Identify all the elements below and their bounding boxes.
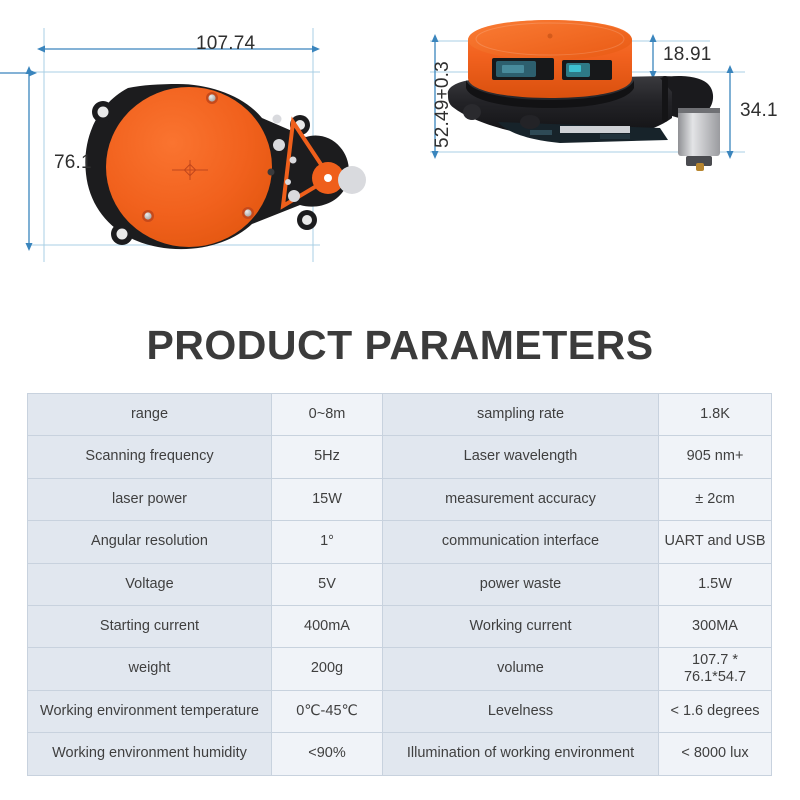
param-value-cell: 300MA <box>659 605 772 647</box>
param-name-cell: Illumination of working environment <box>383 733 659 775</box>
left-figure: 107.74 76.1 <box>0 0 410 300</box>
param-value-cell: ± 2cm <box>659 478 772 520</box>
table-row: Working environment temperature0℃-45℃Lev… <box>28 690 772 732</box>
rotor-cap <box>106 87 272 247</box>
product-parameters-table: range0~8msampling rate1.8KScanning frequ… <box>27 393 771 776</box>
param-value-cell: 1° <box>272 521 383 563</box>
table-row: Starting current400mAWorking current300M… <box>28 605 772 647</box>
dimension-figures: 107.74 76.1 <box>0 0 800 315</box>
right-figure: 52.49+0.3 18.91 34.1 <box>410 0 800 300</box>
param-name-cell: Starting current <box>28 605 272 647</box>
table-row: Scanning frequency5HzLaser wavelength905… <box>28 436 772 478</box>
table-row: laser power15Wmeasurement accuracy± 2cm <box>28 478 772 520</box>
param-value-cell: 107.7 * 76.1*54.7 <box>659 648 772 690</box>
param-value-cell: 400mA <box>272 605 383 647</box>
param-value-cell: 0~8m <box>272 394 383 436</box>
motor-cylinder <box>678 108 720 156</box>
right-total-height-label: 52.49+0.3 <box>432 61 454 148</box>
right-top-height-label: 18.91 <box>663 44 712 66</box>
page-title: PRODUCT PARAMETERS <box>0 322 800 369</box>
param-name-cell: volume <box>383 648 659 690</box>
table-row: Working environment humidity<90%Illumina… <box>28 733 772 775</box>
param-name-cell: weight <box>28 648 272 690</box>
table-row: Angular resolution1°communication interf… <box>28 521 772 563</box>
param-name-cell: Working current <box>383 605 659 647</box>
param-value-cell: 5Hz <box>272 436 383 478</box>
param-name-cell: Working environment temperature <box>28 690 272 732</box>
table-row: Voltage5Vpower waste1.5W <box>28 563 772 605</box>
table-row: range0~8msampling rate1.8K <box>28 394 772 436</box>
device-side-body <box>448 20 720 171</box>
param-value-cell: 0℃-45℃ <box>272 690 383 732</box>
param-value-cell: 1.5W <box>659 563 772 605</box>
param-name-cell: Levelness <box>383 690 659 732</box>
param-name-cell: Voltage <box>28 563 272 605</box>
param-name-cell: communication interface <box>383 521 659 563</box>
param-value-cell: < 1.6 degrees <box>659 690 772 732</box>
param-name-cell: Working environment humidity <box>28 733 272 775</box>
table-row: weight200gvolume107.7 * 76.1*54.7 <box>28 648 772 690</box>
motor-hole <box>338 166 366 194</box>
left-width-dimension-label: 107.74 <box>196 33 255 55</box>
param-name-cell: laser power <box>28 478 272 520</box>
param-name-cell: Laser wavelength <box>383 436 659 478</box>
side-view-drawing-svg <box>410 0 800 300</box>
param-value-cell: 905 nm+ <box>659 436 772 478</box>
param-value-cell: 5V <box>272 563 383 605</box>
param-name-cell: Scanning frequency <box>28 436 272 478</box>
param-name-cell: range <box>28 394 272 436</box>
param-value-cell: 1.8K <box>659 394 772 436</box>
right-lower-height-label: 34.1 <box>740 100 778 122</box>
param-name-cell: Angular resolution <box>28 521 272 563</box>
param-value-cell: < 8000 lux <box>659 733 772 775</box>
param-name-cell: sampling rate <box>383 394 659 436</box>
param-value-cell: 200g <box>272 648 383 690</box>
param-name-cell: power waste <box>383 563 659 605</box>
param-value-cell: <90% <box>272 733 383 775</box>
param-value-cell: UART and USB <box>659 521 772 563</box>
left-height-dimension-label: 76.1 <box>54 152 92 174</box>
param-name-cell: measurement accuracy <box>383 478 659 520</box>
param-value-cell: 15W <box>272 478 383 520</box>
